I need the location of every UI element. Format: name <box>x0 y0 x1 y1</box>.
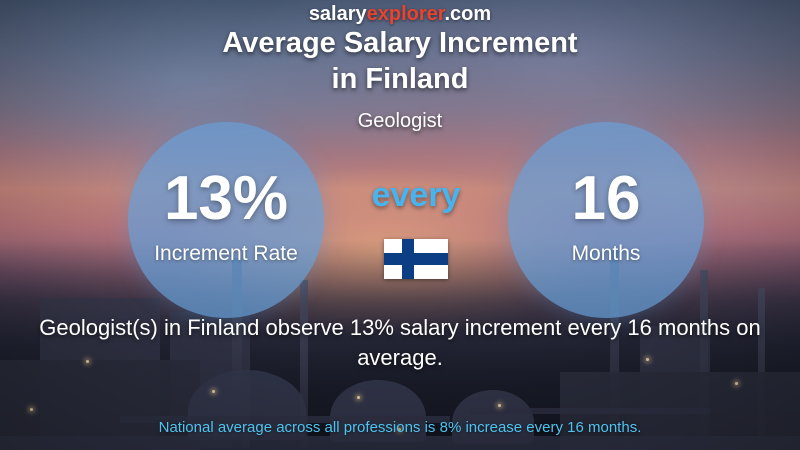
connector-text: every <box>340 176 492 214</box>
page-title-line-2: in Finland <box>0 61 800 97</box>
site-logo[interactable]: salaryexplorer.com <box>0 3 800 25</box>
finland-flag-icon <box>384 239 448 279</box>
increment-rate-label: Increment Rate <box>154 242 298 266</box>
increment-rate-value: 13% <box>164 168 288 230</box>
logo-part-explorer: explorer <box>367 3 445 25</box>
months-label: Months <box>572 242 641 266</box>
page-subtitle: Geologist <box>0 110 800 133</box>
page-title-line-1: Average Salary Increment <box>0 25 800 61</box>
infographic-canvas: salaryexplorer.com Average Salary Increm… <box>0 0 800 450</box>
footnote-text: National average across all professions … <box>0 418 800 438</box>
page-title: Average Salary Increment in Finland <box>0 25 800 97</box>
increment-rate-bubble: 13% Increment Rate <box>128 122 324 318</box>
logo-part-salary: salary <box>309 3 367 25</box>
months-bubble: 16 Months <box>508 122 704 318</box>
flag-cross-horizontal <box>384 253 448 265</box>
logo-part-domain: .com <box>444 3 491 25</box>
flag-cross-vertical <box>402 239 414 279</box>
months-value: 16 <box>572 168 641 230</box>
summary-text: Geologist(s) in Finland observe 13% sala… <box>10 313 790 373</box>
